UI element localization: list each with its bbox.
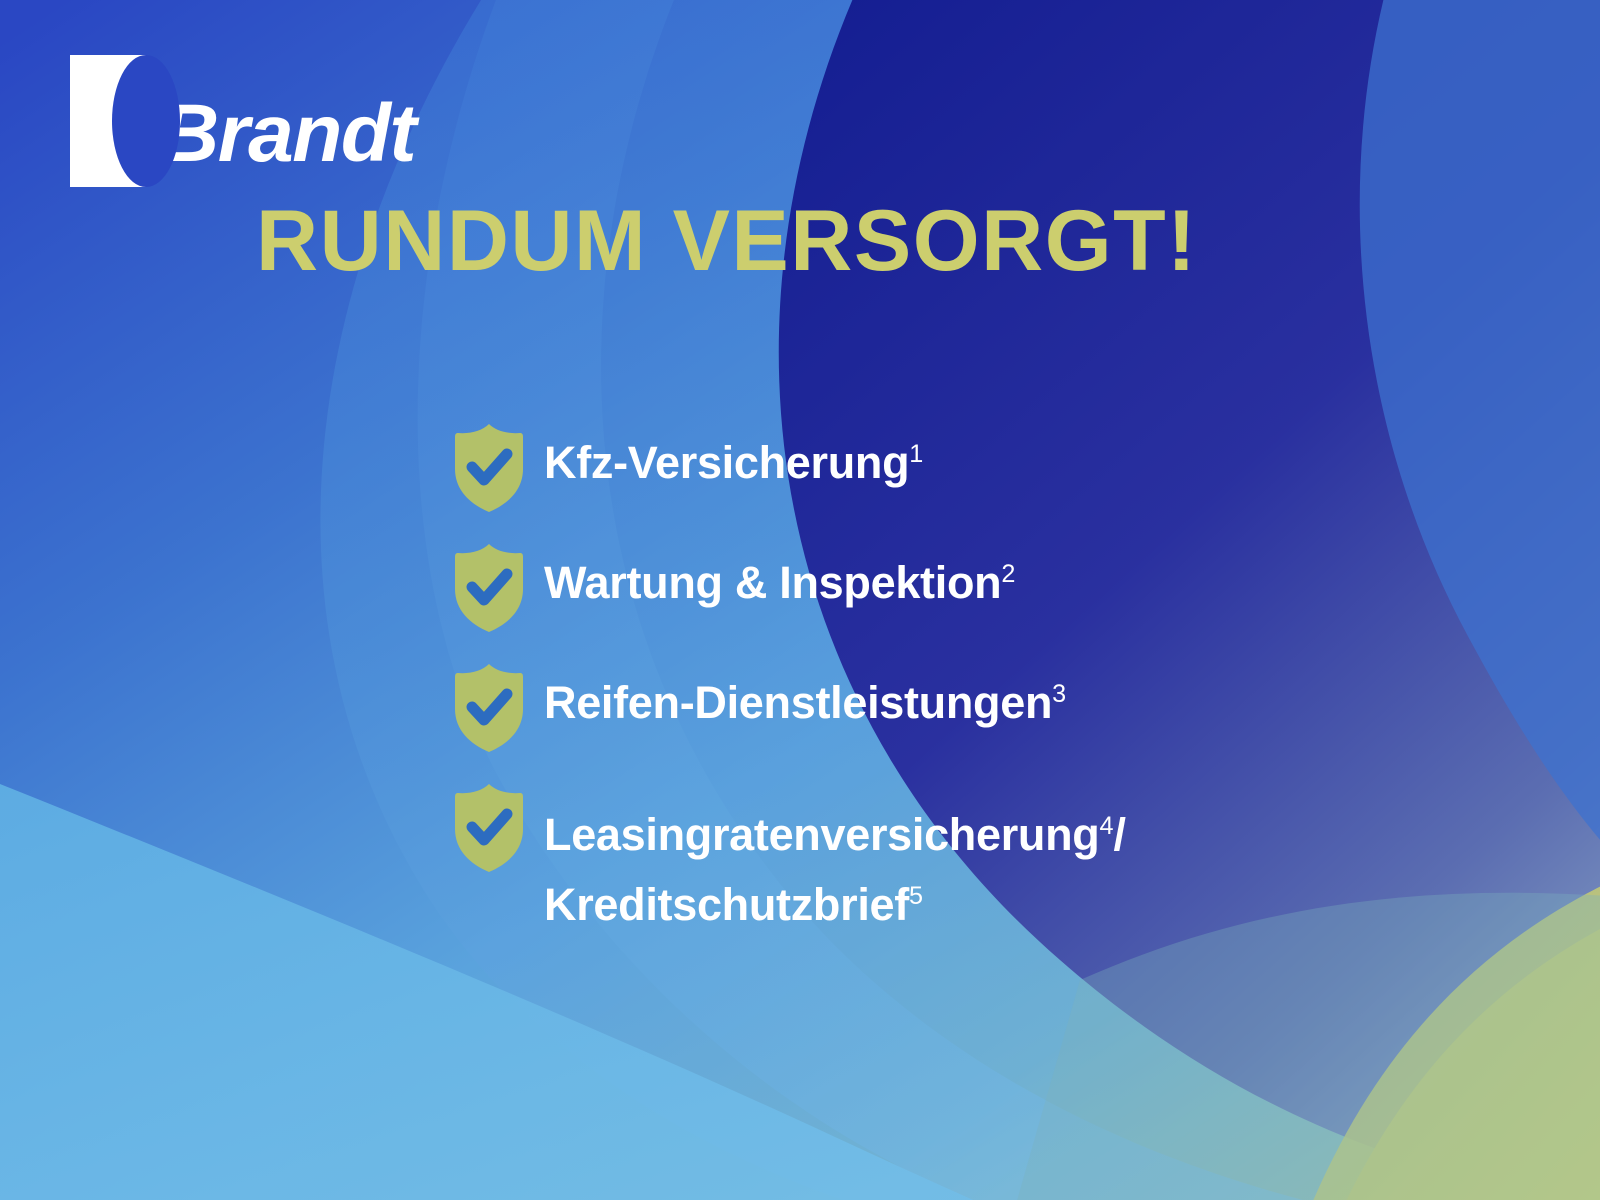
list-item-label: Kfz-Versicherung1 [544,440,923,486]
list-item-label: Reifen-Dienstleistungen3 [544,680,1066,726]
footnote-marker: 1 [909,440,923,468]
list-item-text: Kfz-Versicherung [544,437,909,488]
list-item-label: Leasingratenversicherung4/Kreditschutzbr… [544,800,1504,940]
footnote-marker-second: 5 [909,882,923,910]
shield-check-icon [452,782,526,874]
brand-logo: Brandt [70,55,415,187]
list-item: Reifen-Dienstleistungen3 [452,658,1512,778]
poster-canvas: Brandt RUNDUM VERSORGT! Kfz-Versicherung… [0,0,1600,1200]
list-item-text: Leasingratenversicherung [544,809,1100,860]
list-item-text-second: Kreditschutzbrief [544,879,909,930]
page-title: RUNDUM VERSORGT! [256,198,1197,284]
footnote-marker: 3 [1052,680,1066,708]
separator: / [1114,809,1126,860]
list-item: Kfz-Versicherung1 [452,418,1512,538]
footnote-marker: 2 [1001,560,1015,588]
list-item-text: Reifen-Dienstleistungen [544,677,1052,728]
brandt-bracket-icon [70,55,146,187]
brand-name: Brandt [160,93,415,175]
feature-list: Kfz-Versicherung1 Wartung & Inspektion2 … [452,418,1512,938]
list-item: Leasingratenversicherung4/Kreditschutzbr… [452,778,1512,938]
shield-check-icon [452,662,526,754]
list-item-text: Wartung & Inspektion [544,557,1001,608]
shield-check-icon [452,422,526,514]
list-item-label: Wartung & Inspektion2 [544,560,1015,606]
footnote-marker: 4 [1100,812,1114,840]
list-item: Wartung & Inspektion2 [452,538,1512,658]
shield-check-icon [452,542,526,634]
